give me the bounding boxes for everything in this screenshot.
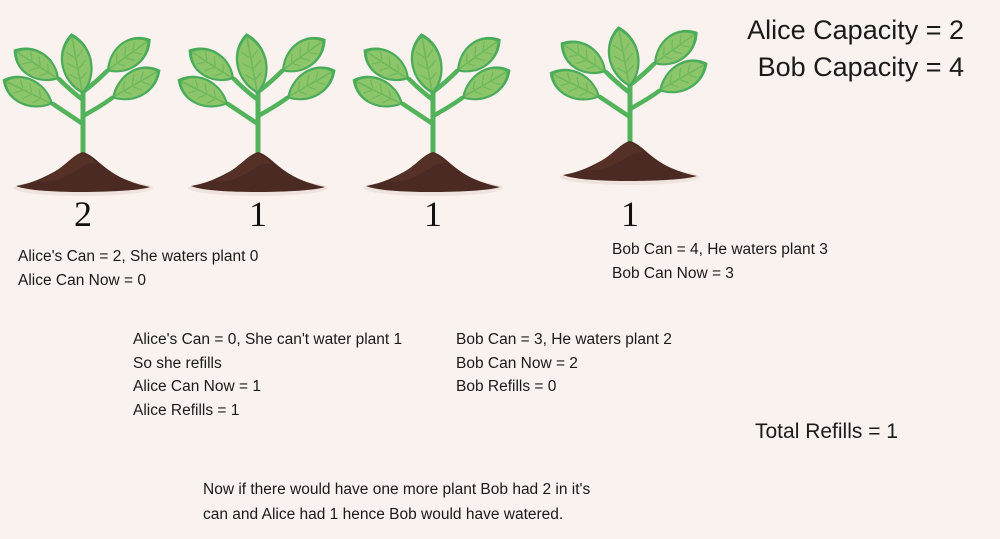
- soil-mound: [13, 152, 153, 196]
- leaf-group: [346, 28, 517, 160]
- leaf-group: [0, 28, 167, 160]
- plant-count-2: 1: [403, 196, 463, 232]
- alice-step-1-line-2: Alice Can Now = 0: [18, 269, 258, 293]
- bob-step-1-line-1: Bob Can = 4, He waters plant 3: [612, 238, 828, 262]
- soil-mound: [188, 152, 328, 196]
- bob-step-2-line-3: Bob Refills = 0: [456, 375, 672, 399]
- bob-capacity-label: Bob Capacity = 4: [747, 49, 964, 86]
- footnote-line-1: Now if there would have one more plant B…: [203, 478, 590, 503]
- plant-illustration-3: [545, 5, 715, 195]
- leaf-group: [171, 28, 342, 160]
- total-refills-label: Total Refills = 1: [755, 420, 898, 444]
- alice-capacity-label: Alice Capacity = 2: [747, 12, 964, 49]
- soil-mound: [560, 141, 700, 185]
- plant-illustration-2: [348, 12, 518, 202]
- capacity-heading-block: Alice Capacity = 2 Bob Capacity = 4: [747, 12, 964, 87]
- plant-illustration-0: [0, 12, 168, 202]
- footnote-line-2: can and Alice had 1 hence Bob would have…: [203, 503, 590, 528]
- bob-step-2-line-2: Bob Can Now = 2: [456, 352, 672, 376]
- bob-step-2-line-1: Bob Can = 3, He waters plant 2: [456, 328, 672, 352]
- alice-step-1-line-1: Alice's Can = 2, She waters plant 0: [18, 245, 258, 269]
- plant-count-3: 1: [600, 196, 660, 232]
- plant-count-1: 1: [228, 196, 288, 232]
- alice-step-2-line-1: Alice's Can = 0, She can't water plant 1: [133, 328, 402, 352]
- plant-count-0: 2: [53, 196, 113, 232]
- plant-illustration-1: [173, 12, 343, 202]
- alice-step-2-line-2: So she refills: [133, 352, 402, 376]
- alice-step-2-line-4: Alice Refills = 1: [133, 399, 402, 423]
- bob-step-1-note: Bob Can = 4, He waters plant 3 Bob Can N…: [612, 238, 828, 285]
- illustration-canvas: 2 1 1 1 Alice Capacity = 2 Bob Capacity …: [0, 0, 1000, 539]
- footnote-note: Now if there would have one more plant B…: [203, 478, 590, 528]
- leaf-group: [543, 21, 714, 153]
- bob-step-1-line-2: Bob Can Now = 3: [612, 262, 828, 286]
- alice-step-2-note: Alice's Can = 0, She can't water plant 1…: [133, 328, 402, 422]
- soil-mound: [363, 152, 503, 196]
- alice-step-2-line-3: Alice Can Now = 1: [133, 375, 402, 399]
- bob-step-2-note: Bob Can = 3, He waters plant 2 Bob Can N…: [456, 328, 672, 399]
- alice-step-1-note: Alice's Can = 2, She waters plant 0 Alic…: [18, 245, 258, 292]
